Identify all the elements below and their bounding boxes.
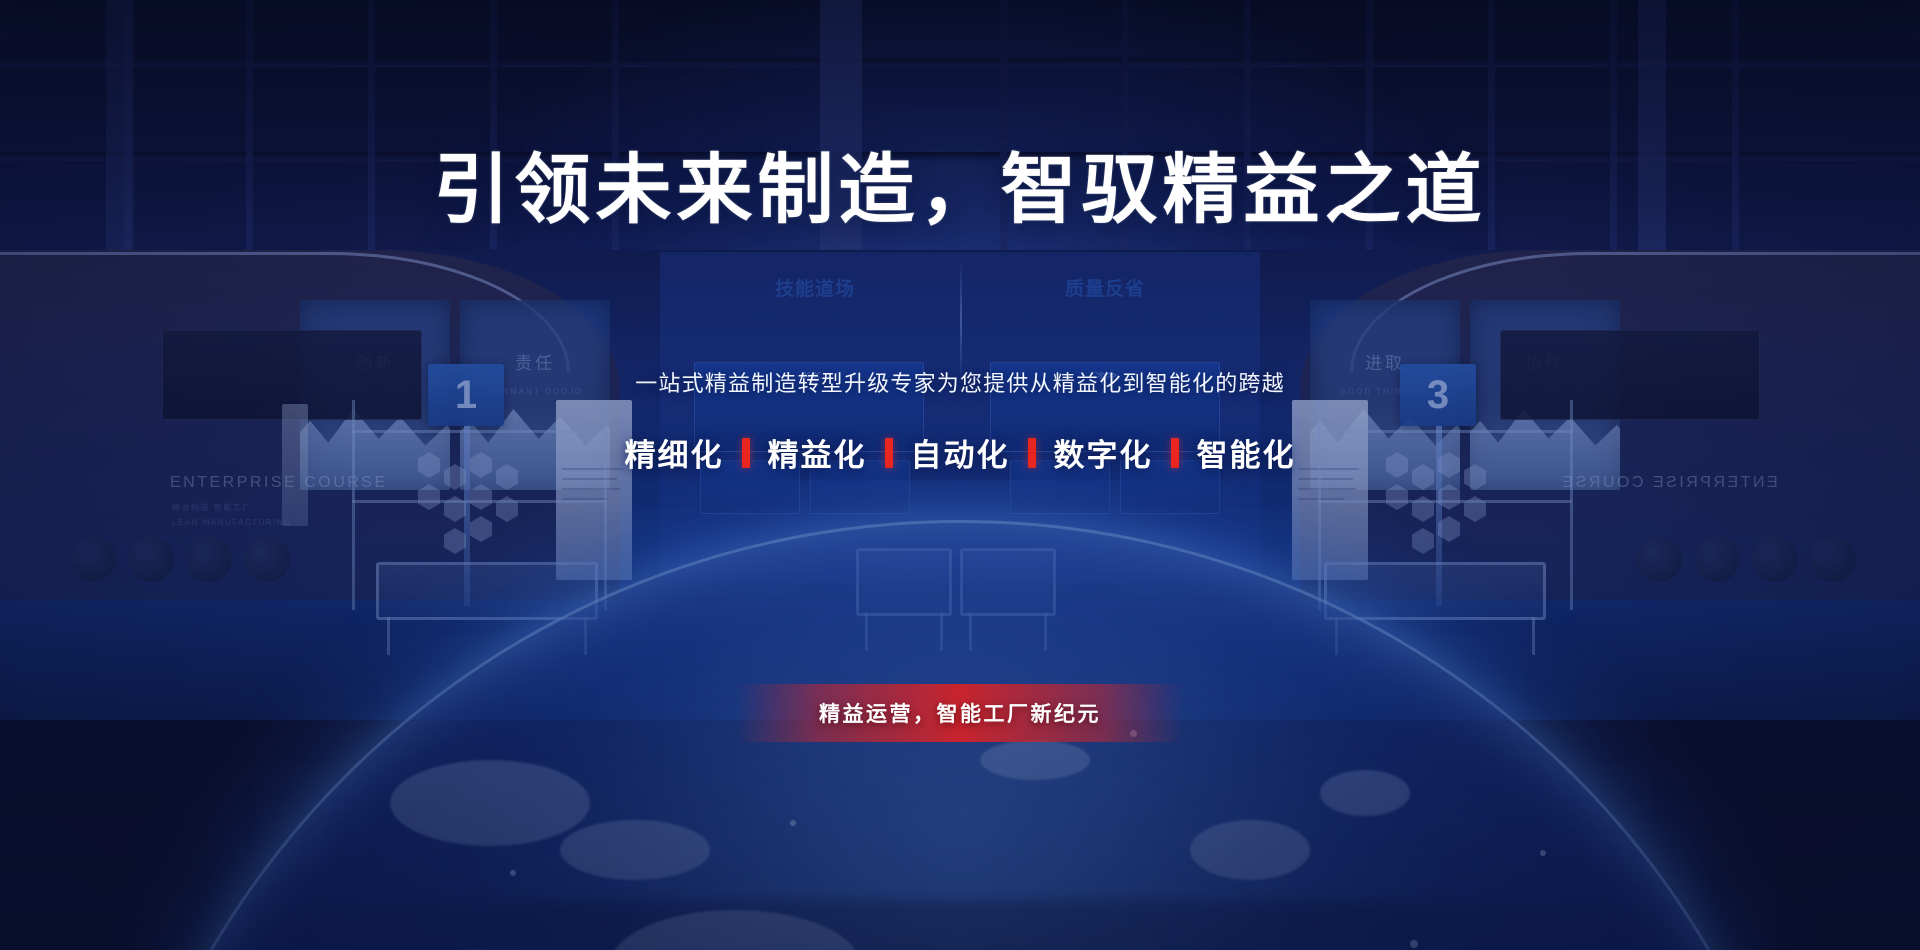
keyword-list: 精细化 精益化 自动化 数字化 智能化 bbox=[0, 430, 1920, 475]
keyword-separator-icon bbox=[1028, 438, 1036, 468]
keyword-item: 精细化 bbox=[625, 430, 724, 475]
hero-banner: 技能道场 SKILL DOJO 质量反省 QUALITY REFLECTION … bbox=[0, 0, 1920, 950]
keyword-item: 精益化 bbox=[768, 430, 867, 475]
hero-content: 引领未来制造，智驭精益之道 一站式精益制造转型升级专家为您提供从精益化到智能化的… bbox=[0, 0, 1920, 950]
slogan-banner-text: 精益运营，智能工厂新纪元 bbox=[819, 698, 1101, 728]
keyword-separator-icon bbox=[1171, 438, 1179, 468]
keyword-item: 数字化 bbox=[1054, 430, 1153, 475]
keyword-item: 智能化 bbox=[1197, 430, 1296, 475]
slogan-banner: 精益运营，智能工厂新纪元 bbox=[737, 684, 1183, 742]
keyword-separator-icon bbox=[742, 438, 750, 468]
keyword-item: 自动化 bbox=[911, 430, 1010, 475]
page-subtitle: 一站式精益制造转型升级专家为您提供从精益化到智能化的跨越 bbox=[0, 366, 1920, 398]
page-title: 引领未来制造，智驭精益之道 bbox=[0, 128, 1920, 238]
keyword-separator-icon bbox=[885, 438, 893, 468]
